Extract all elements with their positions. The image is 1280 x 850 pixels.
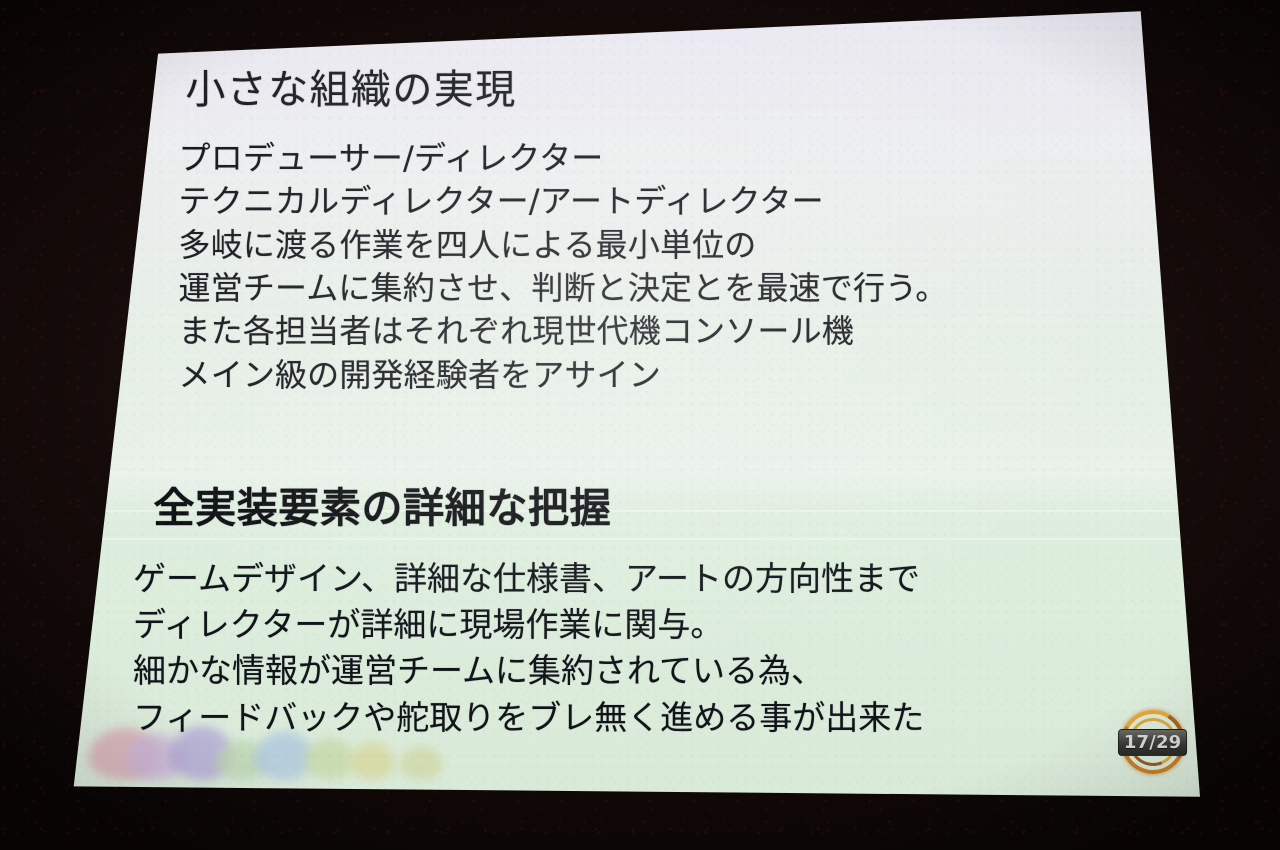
section-1-line-6: メイン級の開発経験者をアサイン <box>179 354 948 397</box>
section-2-heading: 全実装要素の詳細な把握 <box>153 474 611 534</box>
screenshot-root: 小さな組織の実現 プロデューサー/ディレクター テクニカルディレクター/アートデ… <box>0 0 1280 850</box>
section-1-line-3: 多岐に渡る作業を四人による最小単位の <box>179 224 948 267</box>
section-1-body: プロデューサー/ディレクター テクニカルディレクター/アートディレクター 多岐に… <box>179 137 948 397</box>
page-number-text: 17/29 <box>1118 729 1188 756</box>
section-1-heading: 小さな組織の実現 <box>185 57 516 115</box>
slide-content: 小さな組織の実現 プロデューサー/ディレクター テクニカルディレクター/アートデ… <box>60 4 1200 804</box>
section-1-line-4: 運営チームに集約させ、判断と決定とを最速で行う。 <box>179 267 948 310</box>
section-1-line-2: テクニカルディレクター/アートディレクター <box>179 180 948 223</box>
projected-slide: 小さな組織の実現 プロデューサー/ディレクター テクニカルディレクター/アートデ… <box>60 4 1200 804</box>
section-1-line-5: また各担当者はそれぞれ現世代機コンソール機 <box>179 310 948 353</box>
section-2-line-4: フィードバックや舵取りをブレ無く進める事が出来た <box>133 695 924 741</box>
section-2-line-1: ゲームデザイン、詳細な仕様書、アートの方向性まで <box>133 556 924 602</box>
section-2-body: ゲームデザイン、詳細な仕様書、アートの方向性まで ディレクターが詳細に現場作業に… <box>133 556 924 741</box>
section-1-line-1: プロデューサー/ディレクター <box>179 137 948 180</box>
section-2-line-3: 細かな情報が運営チームに集約されている為、 <box>133 648 924 694</box>
page-number-badge: 17/29 <box>1117 706 1189 778</box>
section-2-line-2: ディレクターが詳細に現場作業に関与。 <box>133 602 924 648</box>
